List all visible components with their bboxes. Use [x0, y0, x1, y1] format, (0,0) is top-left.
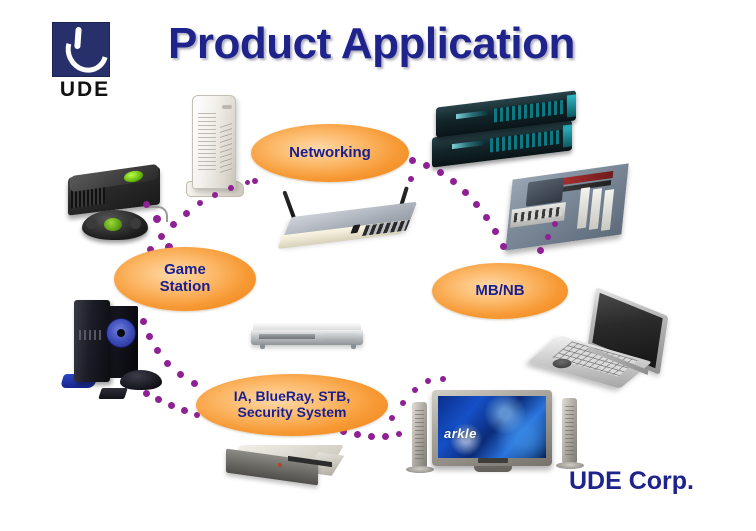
crescent-icon [58, 21, 116, 80]
console-body [74, 300, 110, 382]
dvd-disc-tray [259, 334, 315, 339]
callout-networking[interactable]: Networking [251, 124, 409, 182]
ude-logo: UDE [44, 22, 140, 98]
callout-mb-nb[interactable]: MB/NB [432, 263, 568, 319]
switch-port-bank [494, 100, 566, 123]
modem-vent-grille [198, 113, 216, 171]
set-top-box [226, 445, 342, 487]
callout-game-station-label: Game Station [160, 262, 211, 296]
speaker-base-left [406, 466, 434, 473]
logo-mark-square [52, 22, 110, 77]
slide-canvas: UDE Product Application [0, 0, 756, 531]
switch-uplink-module [563, 124, 572, 147]
tv-stand [474, 465, 512, 472]
tv-brand-badge [478, 458, 508, 463]
callout-networking-label: Networking [289, 145, 371, 162]
logo-wordmark: UDE [44, 78, 126, 102]
gamepad-left-stick [86, 218, 97, 229]
footer-brand: UDE Corp. [569, 467, 694, 496]
modem-side-grille [220, 123, 232, 173]
playstation-console [62, 300, 166, 404]
callout-line: Station [160, 278, 211, 295]
dvd-display-panel [323, 333, 357, 341]
switch-uplink-module [567, 94, 576, 117]
callout-line: Game [164, 261, 206, 278]
dvd-foot [351, 344, 356, 349]
callout-ia-label: IA, BlueRay, STB, Security System [234, 389, 350, 420]
motherboard [505, 166, 629, 250]
callout-line: IA, BlueRay, STB, [234, 388, 350, 404]
network-switches [432, 95, 580, 171]
laptop [540, 300, 670, 396]
disc-hub [117, 329, 125, 337]
dvd-foot [260, 344, 265, 349]
callout-mb-nb-label: MB/NB [475, 283, 524, 300]
callout-ia-blueray-stb[interactable]: IA, BlueRay, STB, Security System [196, 374, 388, 436]
wireless-router [268, 190, 428, 258]
switch-port-bank [490, 130, 562, 153]
gamepad-logo-icon [104, 218, 122, 231]
dvd-player [251, 323, 363, 353]
tv-screen-text: arkle [444, 426, 477, 441]
callout-game-station[interactable]: Game Station [114, 247, 256, 311]
tower-speaker-left [412, 402, 427, 468]
gamepad-right-stick [130, 218, 141, 229]
cable-modem [186, 95, 246, 199]
memory-card [98, 388, 128, 399]
game-console-xbox [62, 168, 170, 248]
page-title: Product Application [168, 19, 575, 69]
gamepad [120, 370, 162, 390]
switch-led-bar [452, 140, 484, 149]
speaker-grille [415, 410, 424, 460]
speaker-grille [565, 406, 574, 456]
switch-led-bar [456, 110, 488, 119]
modem-led-panel [222, 105, 232, 109]
tv-screen: arkle [438, 396, 546, 458]
callout-line: Security System [238, 404, 347, 420]
stb-power-led [278, 463, 282, 468]
plasma-tv: arkle [410, 388, 590, 488]
tower-speaker-right [562, 398, 577, 464]
console-brand-mark [79, 330, 101, 340]
